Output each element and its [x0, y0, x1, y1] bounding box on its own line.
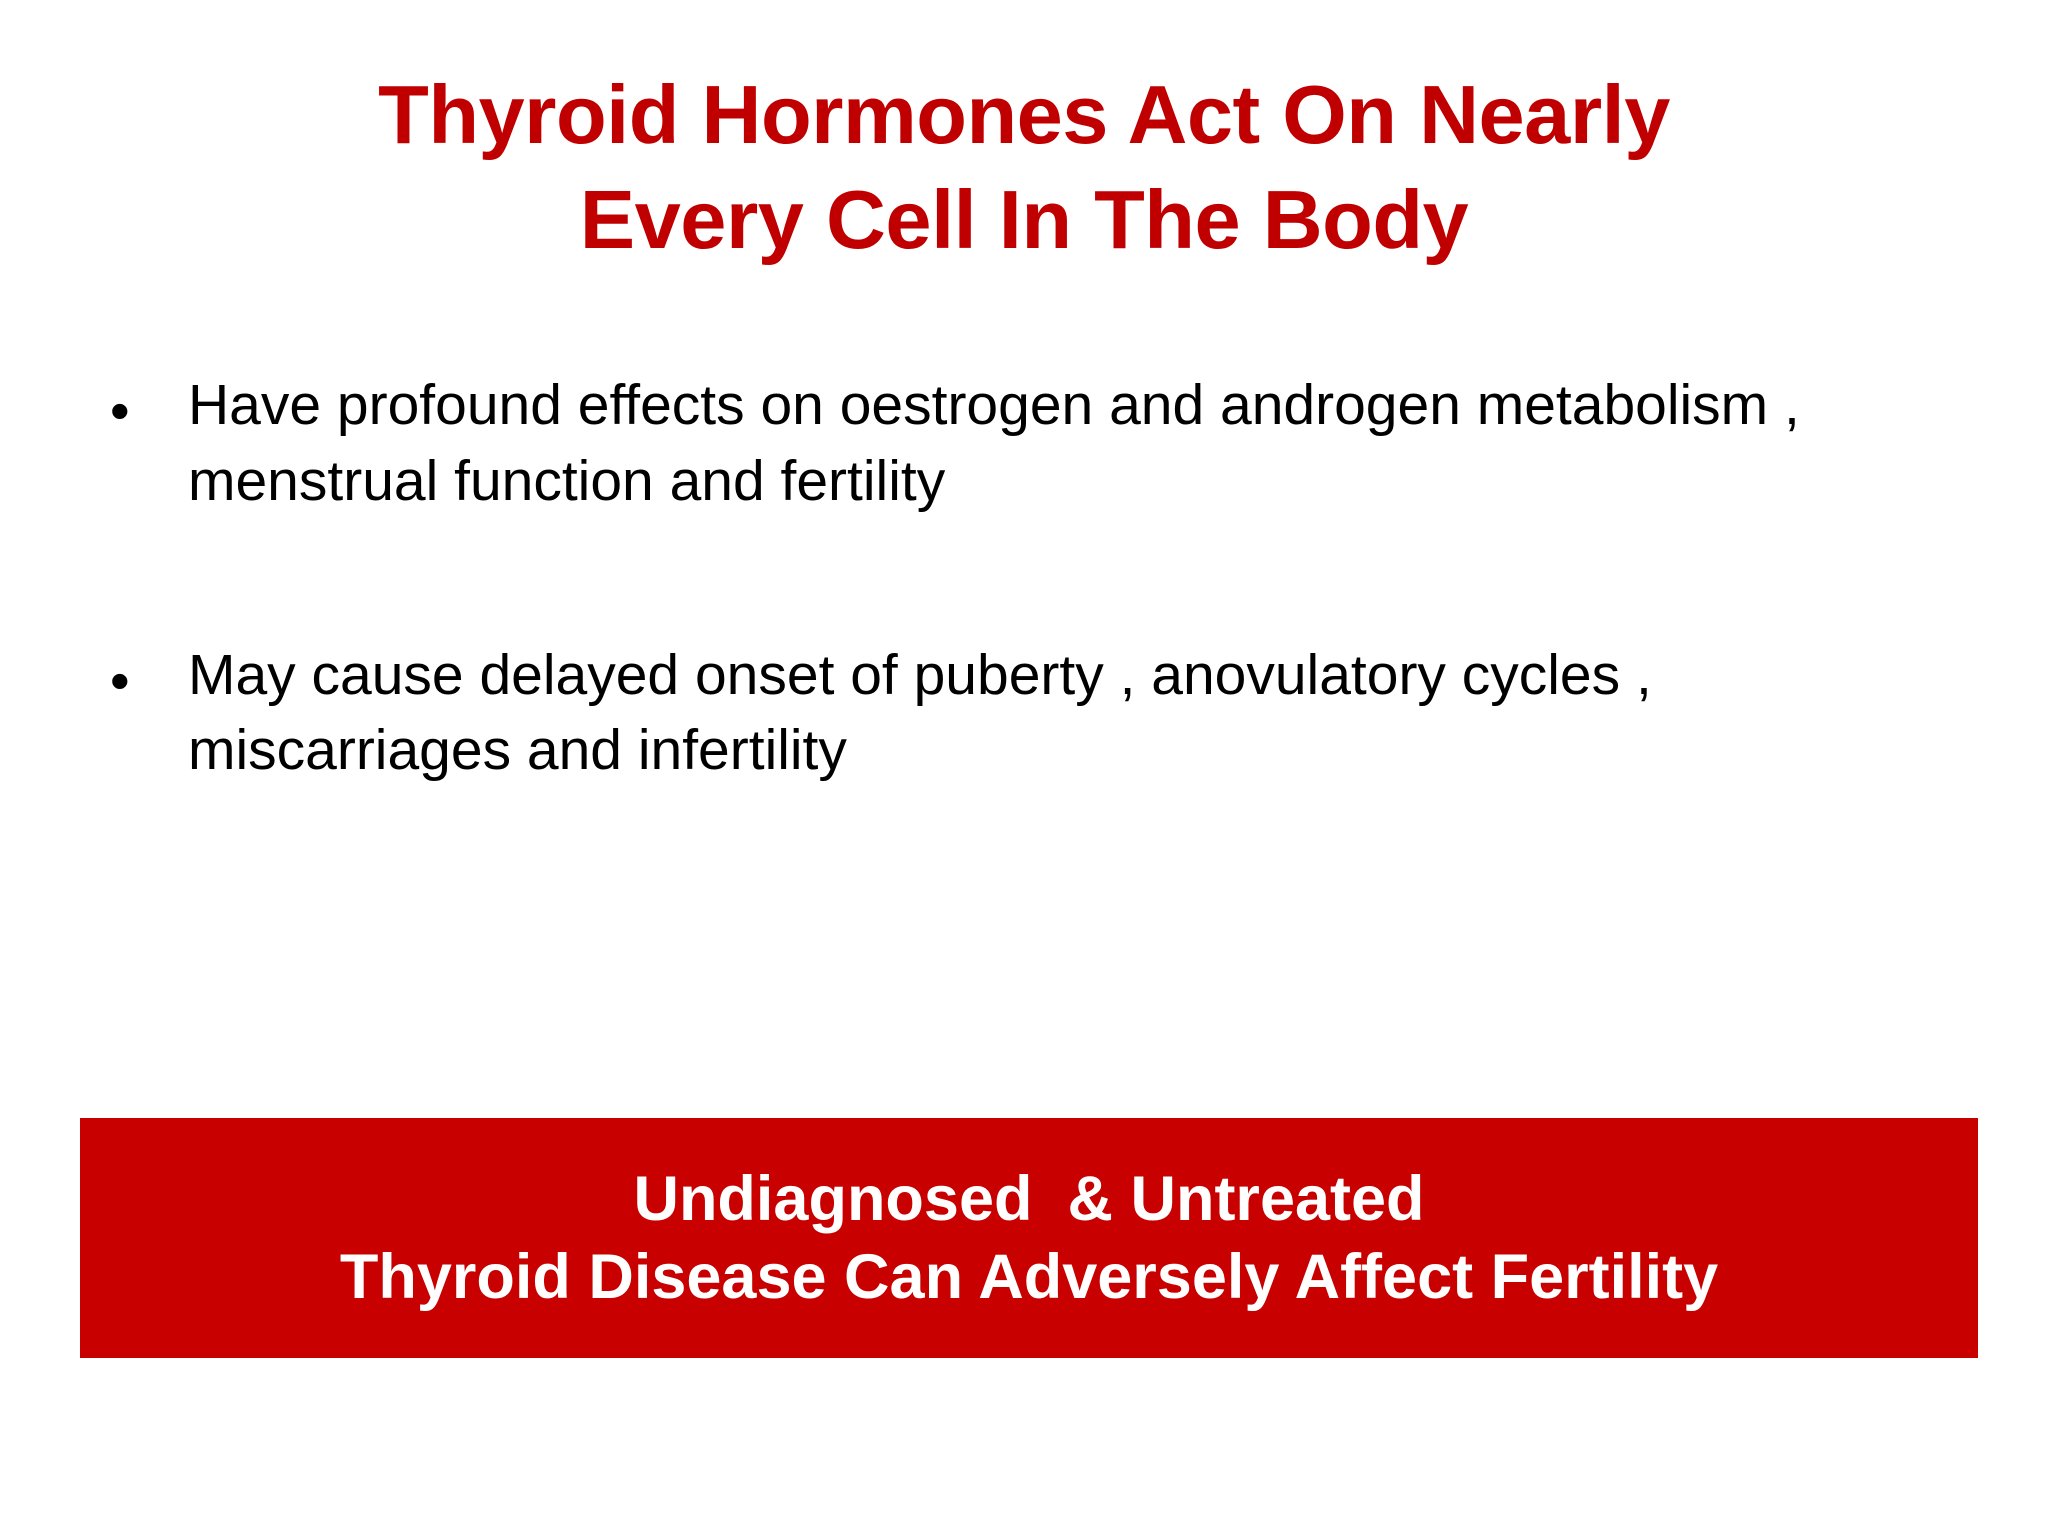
- bullet-list: • Have profound effects on oestrogen and…: [110, 368, 1970, 789]
- banner-line-2: Thyroid Disease Can Adversely Affect Fer…: [340, 1238, 1718, 1316]
- list-item: • Have profound effects on oestrogen and…: [110, 368, 1970, 520]
- presentation-slide: Thyroid Hormones Act On Nearly Every Cel…: [0, 0, 2048, 1536]
- title-line-2: Every Cell In The Body: [0, 167, 2048, 272]
- callout-banner: Undiagnosed & Untreated Thyroid Disease …: [80, 1118, 1978, 1358]
- slide-title: Thyroid Hormones Act On Nearly Every Cel…: [0, 62, 2048, 273]
- bullet-point-icon: •: [110, 368, 188, 448]
- bullet-point-icon: •: [110, 638, 188, 718]
- list-item: • May cause delayed onset of puberty , a…: [110, 638, 1970, 790]
- banner-line-1: Undiagnosed & Untreated: [633, 1160, 1424, 1238]
- bullet-text-2: May cause delayed onset of puberty , ano…: [188, 638, 1970, 790]
- title-line-1: Thyroid Hormones Act On Nearly: [0, 62, 2048, 167]
- bullet-text-1: Have profound effects on oestrogen and a…: [188, 368, 1970, 520]
